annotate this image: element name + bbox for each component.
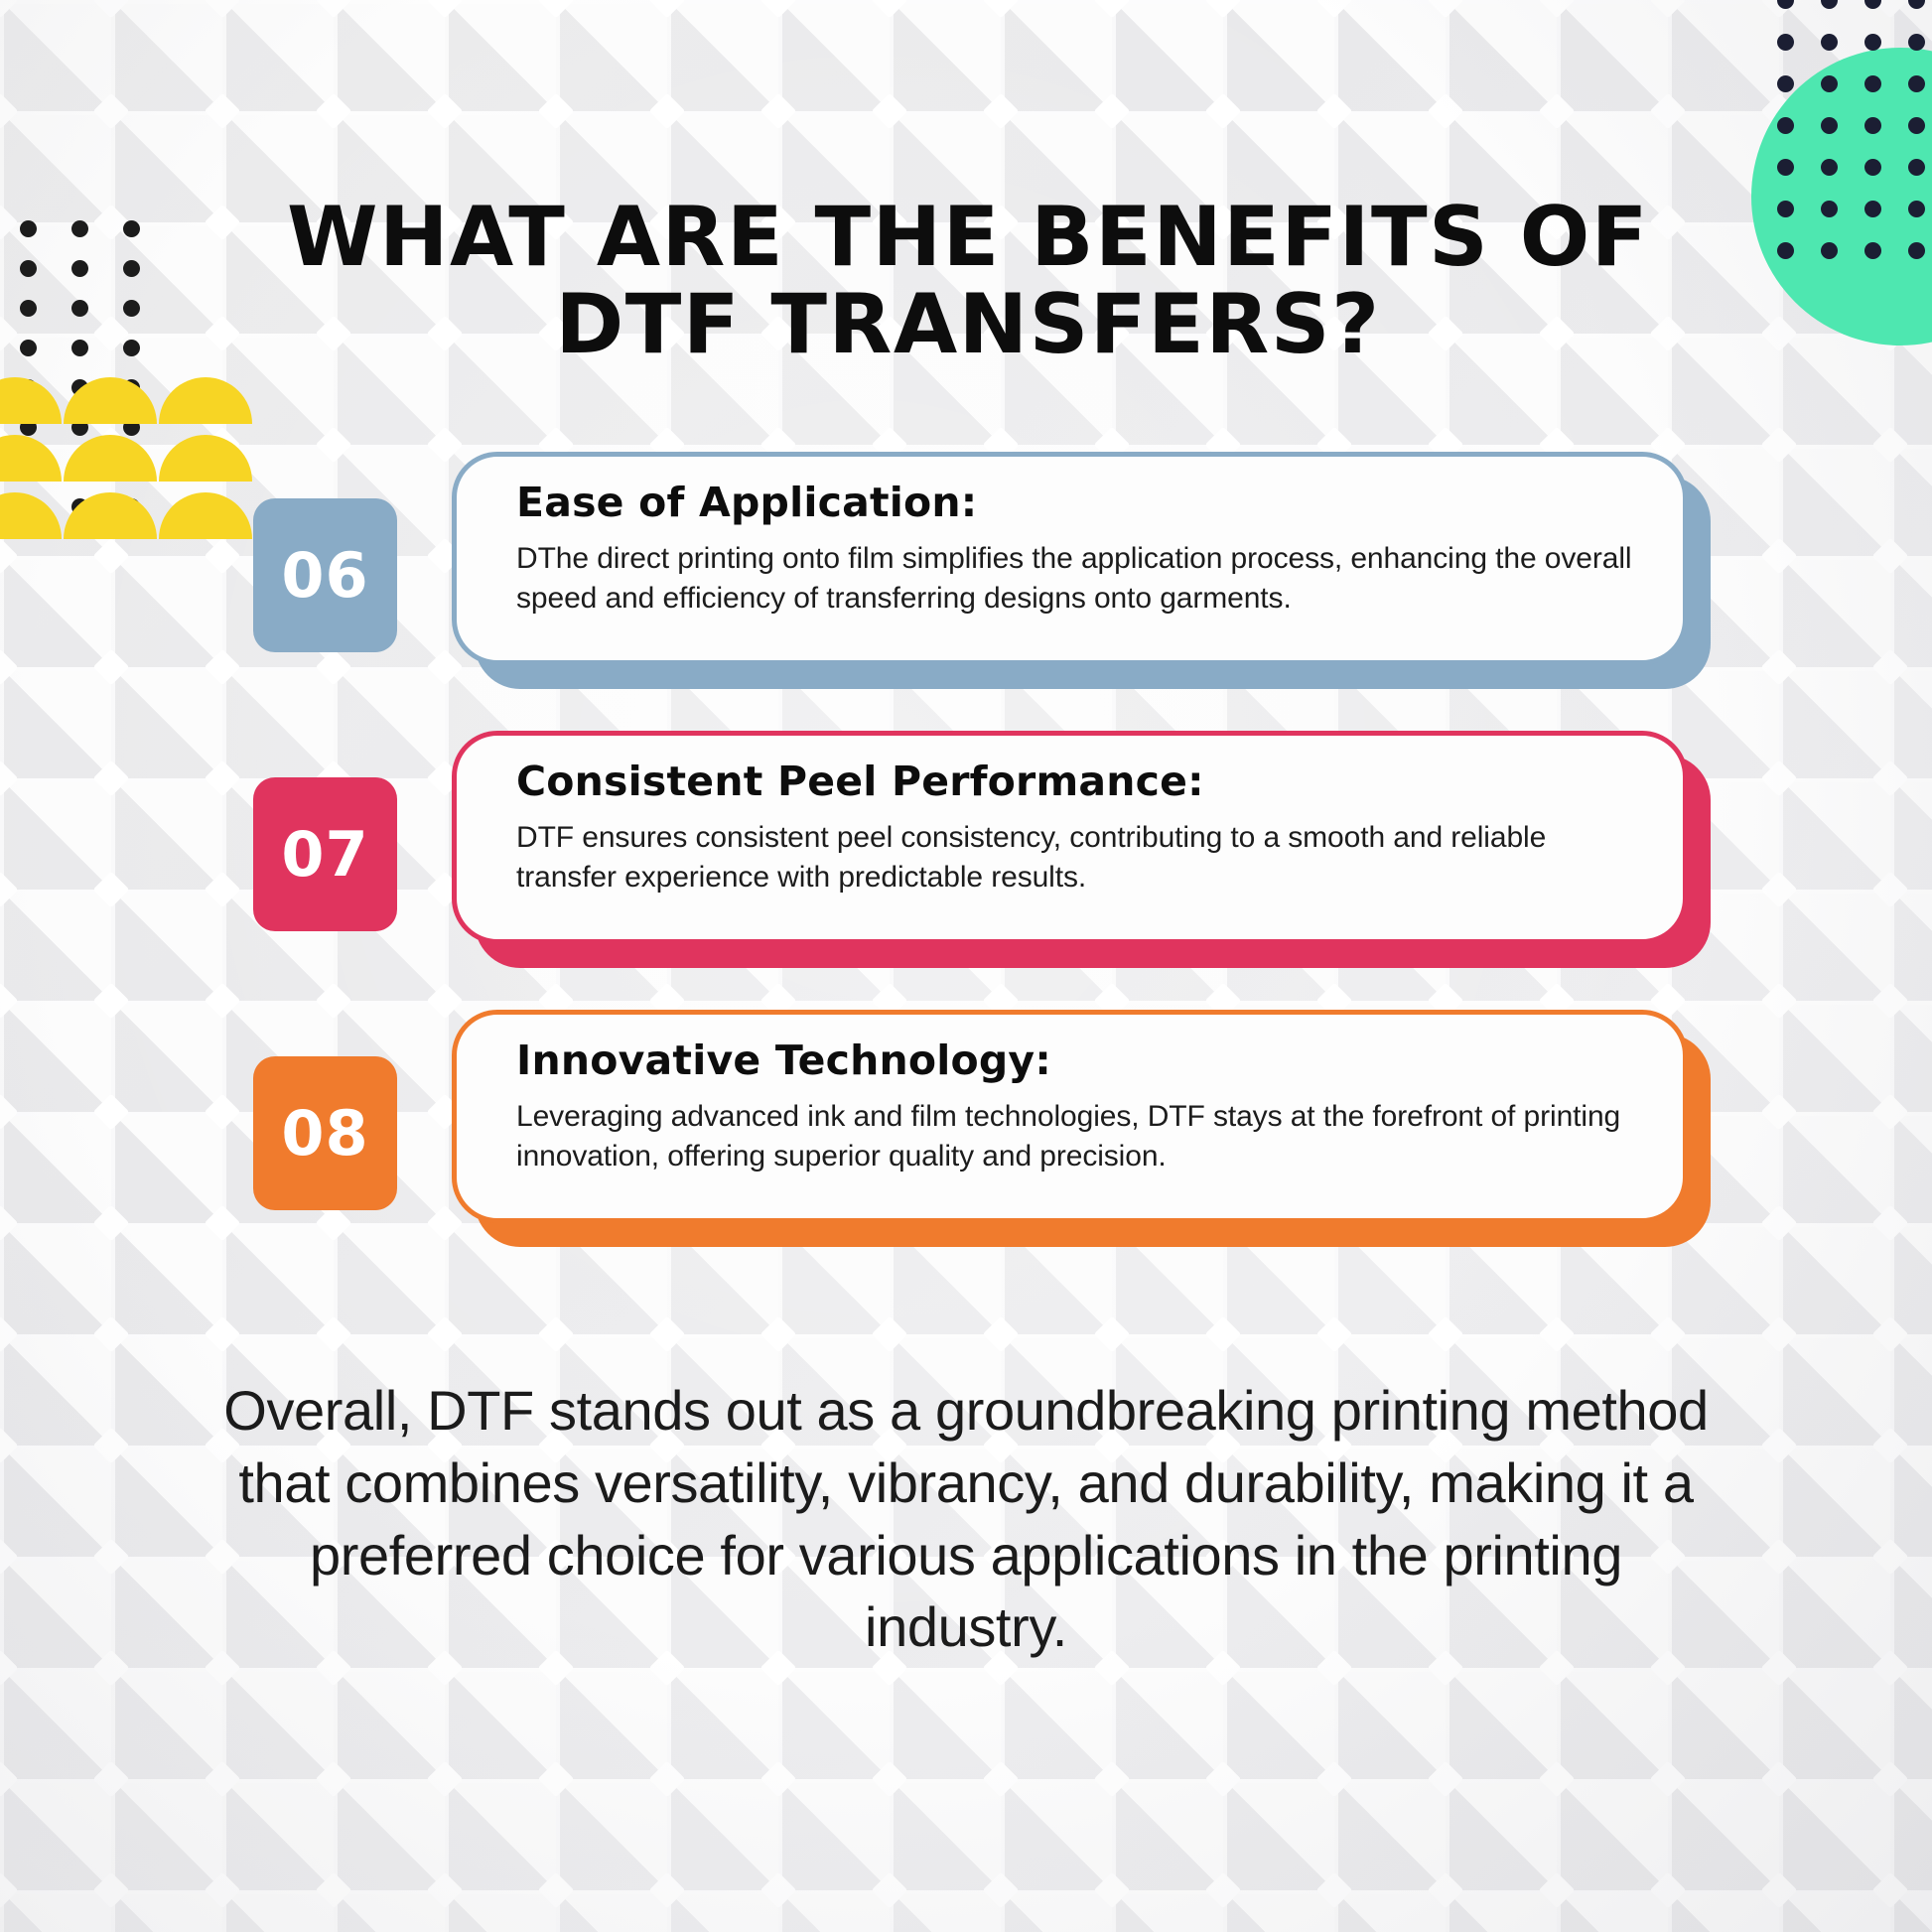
page-title: WHAT ARE THE BENEFITS OF DTF TRANSFERS? bbox=[248, 194, 1688, 368]
benefit-number: 07 bbox=[281, 818, 368, 891]
infographic-canvas: WHAT ARE THE BENEFITS OF DTF TRANSFERS? … bbox=[0, 0, 1932, 1932]
benefit-heading: Ease of Application: bbox=[516, 481, 1637, 525]
benefit-heading: Innovative Technology: bbox=[516, 1038, 1637, 1083]
benefit-number: 08 bbox=[281, 1097, 368, 1170]
benefit-card: Innovative Technology:Leveraging advance… bbox=[452, 1010, 1688, 1223]
benefit-body: DTF ensures consistent peel consistency,… bbox=[516, 818, 1637, 897]
benefit-card: Ease of Application:DThe direct printing… bbox=[452, 452, 1688, 665]
benefit-heading: Consistent Peel Performance: bbox=[516, 759, 1637, 804]
benefit-number: 06 bbox=[281, 539, 368, 612]
benefit-body: DThe direct printing onto film simplifie… bbox=[516, 539, 1637, 619]
benefit-number-badge: 07 bbox=[253, 777, 397, 931]
benefit-item: 08Innovative Technology:Leveraging advan… bbox=[0, 1010, 1932, 1270]
benefit-number-badge: 06 bbox=[253, 498, 397, 652]
benefit-number-badge: 08 bbox=[253, 1056, 397, 1210]
benefit-card: Consistent Peel Performance:DTF ensures … bbox=[452, 731, 1688, 944]
benefit-item: 06Ease of Application:DThe direct printi… bbox=[0, 452, 1932, 712]
dot-grid-decoration-top-right bbox=[1777, 0, 1932, 258]
closing-paragraph: Overall, DTF stands out as a groundbreak… bbox=[211, 1375, 1721, 1664]
benefits-list: 06Ease of Application:DThe direct printi… bbox=[0, 452, 1932, 1289]
benefit-item: 07Consistent Peel Performance:DTF ensure… bbox=[0, 731, 1932, 991]
benefit-body: Leveraging advanced ink and film technol… bbox=[516, 1097, 1637, 1176]
